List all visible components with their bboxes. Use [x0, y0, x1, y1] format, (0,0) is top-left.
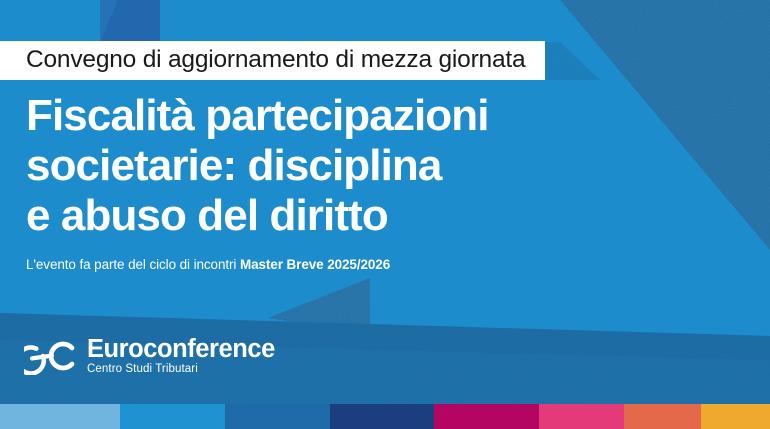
color-swatch-medium-blue — [120, 404, 225, 429]
headline-line-2: societarie: disciplina — [26, 141, 626, 191]
headline-line-3: e abuso del diritto — [26, 191, 626, 241]
logo-name: Euroconference — [87, 336, 275, 362]
headline: Fiscalità partecipazioni societarie: dis… — [26, 91, 626, 241]
color-swatch-amber — [701, 404, 770, 429]
logo-tagline: Centro Studi Tributari — [87, 363, 275, 376]
logo-wordmark: Euroconference Centro Studi Tributari — [87, 336, 275, 376]
headline-line-1: Fiscalità partecipazioni — [26, 91, 626, 141]
subtitle-highlight: Master Breve 2025/2026 — [240, 257, 390, 272]
euroconference-logo: Euroconference Centro Studi Tributari — [24, 336, 275, 376]
subtitle: L'evento fa parte del ciclo di incontri … — [26, 257, 390, 273]
eyebrow-banner: Convegno di aggiornamento di mezza giorn… — [0, 41, 545, 80]
bottom-color-strip — [0, 404, 770, 429]
ec-monogram-icon — [24, 337, 78, 375]
color-swatch-light-blue — [0, 404, 120, 429]
color-swatch-magenta — [434, 404, 539, 429]
eyebrow-text: Convegno di aggiornamento di mezza giorn… — [26, 48, 525, 73]
subtitle-prefix: L'evento fa parte del ciclo di incontri — [26, 257, 240, 272]
event-promo-banner: Convegno di aggiornamento di mezza giorn… — [0, 0, 770, 429]
color-swatch-navy-blue — [330, 404, 435, 429]
color-swatch-pink — [539, 404, 624, 429]
color-swatch-coral-orange — [624, 404, 701, 429]
color-swatch-steel-blue — [225, 404, 330, 429]
